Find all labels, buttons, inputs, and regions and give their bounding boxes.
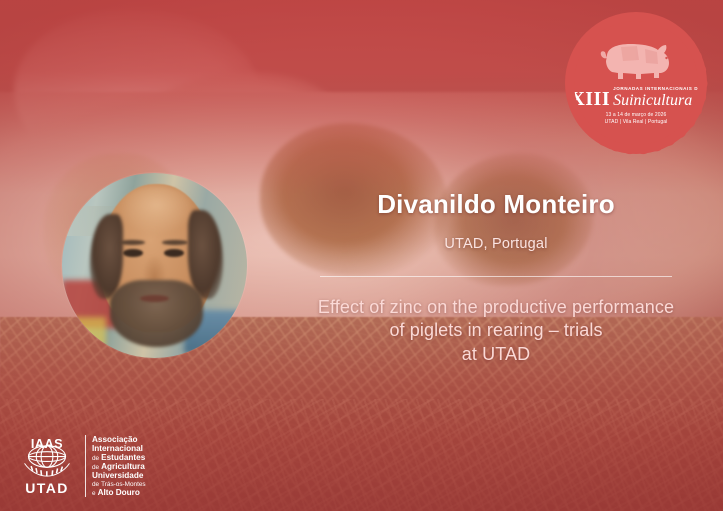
list-item: Universidade (92, 471, 146, 480)
iaas-line-3-prefix: de (92, 464, 99, 471)
portrait-eyebrow-right (162, 240, 188, 246)
iaas-line-1: Internacional (92, 444, 143, 453)
badge-location: UTAD | Vila Real | Portugal (605, 119, 668, 125)
iaas-line-5: Trás-os-Montes (101, 481, 146, 488)
badge-kicker: JORNADAS INTERNACIONAIS DE (613, 87, 698, 92)
badge-title-row: XIII JORNADAS INTERNACIONAIS DE Suinicul… (574, 87, 698, 108)
iaas-line-6-prefix: e (92, 490, 96, 497)
text-divider-rule (320, 276, 672, 277)
portrait-beard (110, 280, 203, 347)
iaas-line-3: Agricultura (101, 462, 145, 471)
badge-dates: 13 a 14 de março de 2026 (606, 112, 667, 118)
talk-title: Effect of zinc on the productive perform… (280, 296, 712, 367)
talk-title-line-3: at UTAD (462, 344, 530, 364)
list-item: Associação (92, 435, 146, 444)
speaker-affiliation: UTAD, Portugal (280, 236, 712, 252)
portrait-eyebrow-left (119, 240, 145, 246)
badge-event-name: Suinicultura (613, 93, 692, 108)
svg-text:IAAS: IAAS (31, 437, 63, 451)
badge-edition-numeral: XIII (574, 90, 610, 108)
portrait-yellow-object (66, 317, 107, 347)
speaker-name: Divanildo Monteiro (280, 190, 712, 219)
speaker-text-block: Divanildo Monteiro UTAD, Portugal Effect… (280, 190, 712, 367)
iaas-line-5-prefix: de (92, 481, 99, 488)
iaas-description: Associação Internacional deEstudantes de… (85, 435, 146, 497)
portrait-forehead-highlight (118, 186, 196, 234)
pig-silhouette-icon (597, 38, 675, 85)
iaas-globe-mark: IAAS UTAD (16, 437, 78, 495)
iaas-institution-label: UTAD (25, 481, 68, 495)
list-item: deAgricultura (92, 462, 146, 471)
iaas-utad-logo: IAAS UTAD Associação Internacio (16, 435, 146, 497)
badge-content: XIII JORNADAS INTERNACIONAIS DE Suinicul… (574, 21, 698, 145)
talk-title-line-1: Effect of zinc on the productive perform… (318, 297, 674, 317)
iaas-line-2: Estudantes (101, 453, 145, 462)
list-item: Internacional (92, 444, 146, 453)
speaker-portrait-photo (62, 173, 247, 358)
talk-title-line-2: of piglets in rearing – trials (389, 320, 602, 340)
event-badge: XIII JORNADAS INTERNACIONAIS DE Suinicul… (565, 12, 707, 154)
list-item: eAlto Douro (92, 488, 146, 497)
iaas-line-6: Alto Douro (98, 488, 140, 497)
iaas-line-4: Universidade (92, 471, 143, 480)
iaas-line-0: Associação (92, 435, 138, 444)
iaas-line-2-prefix: de (92, 455, 99, 462)
globe-icon: IAAS (16, 437, 78, 480)
list-item: deTrás-os-Montes (92, 481, 146, 488)
presentation-slide: XIII JORNADAS INTERNACIONAIS DE Suinicul… (0, 0, 723, 511)
list-item: deEstudantes (92, 453, 146, 462)
